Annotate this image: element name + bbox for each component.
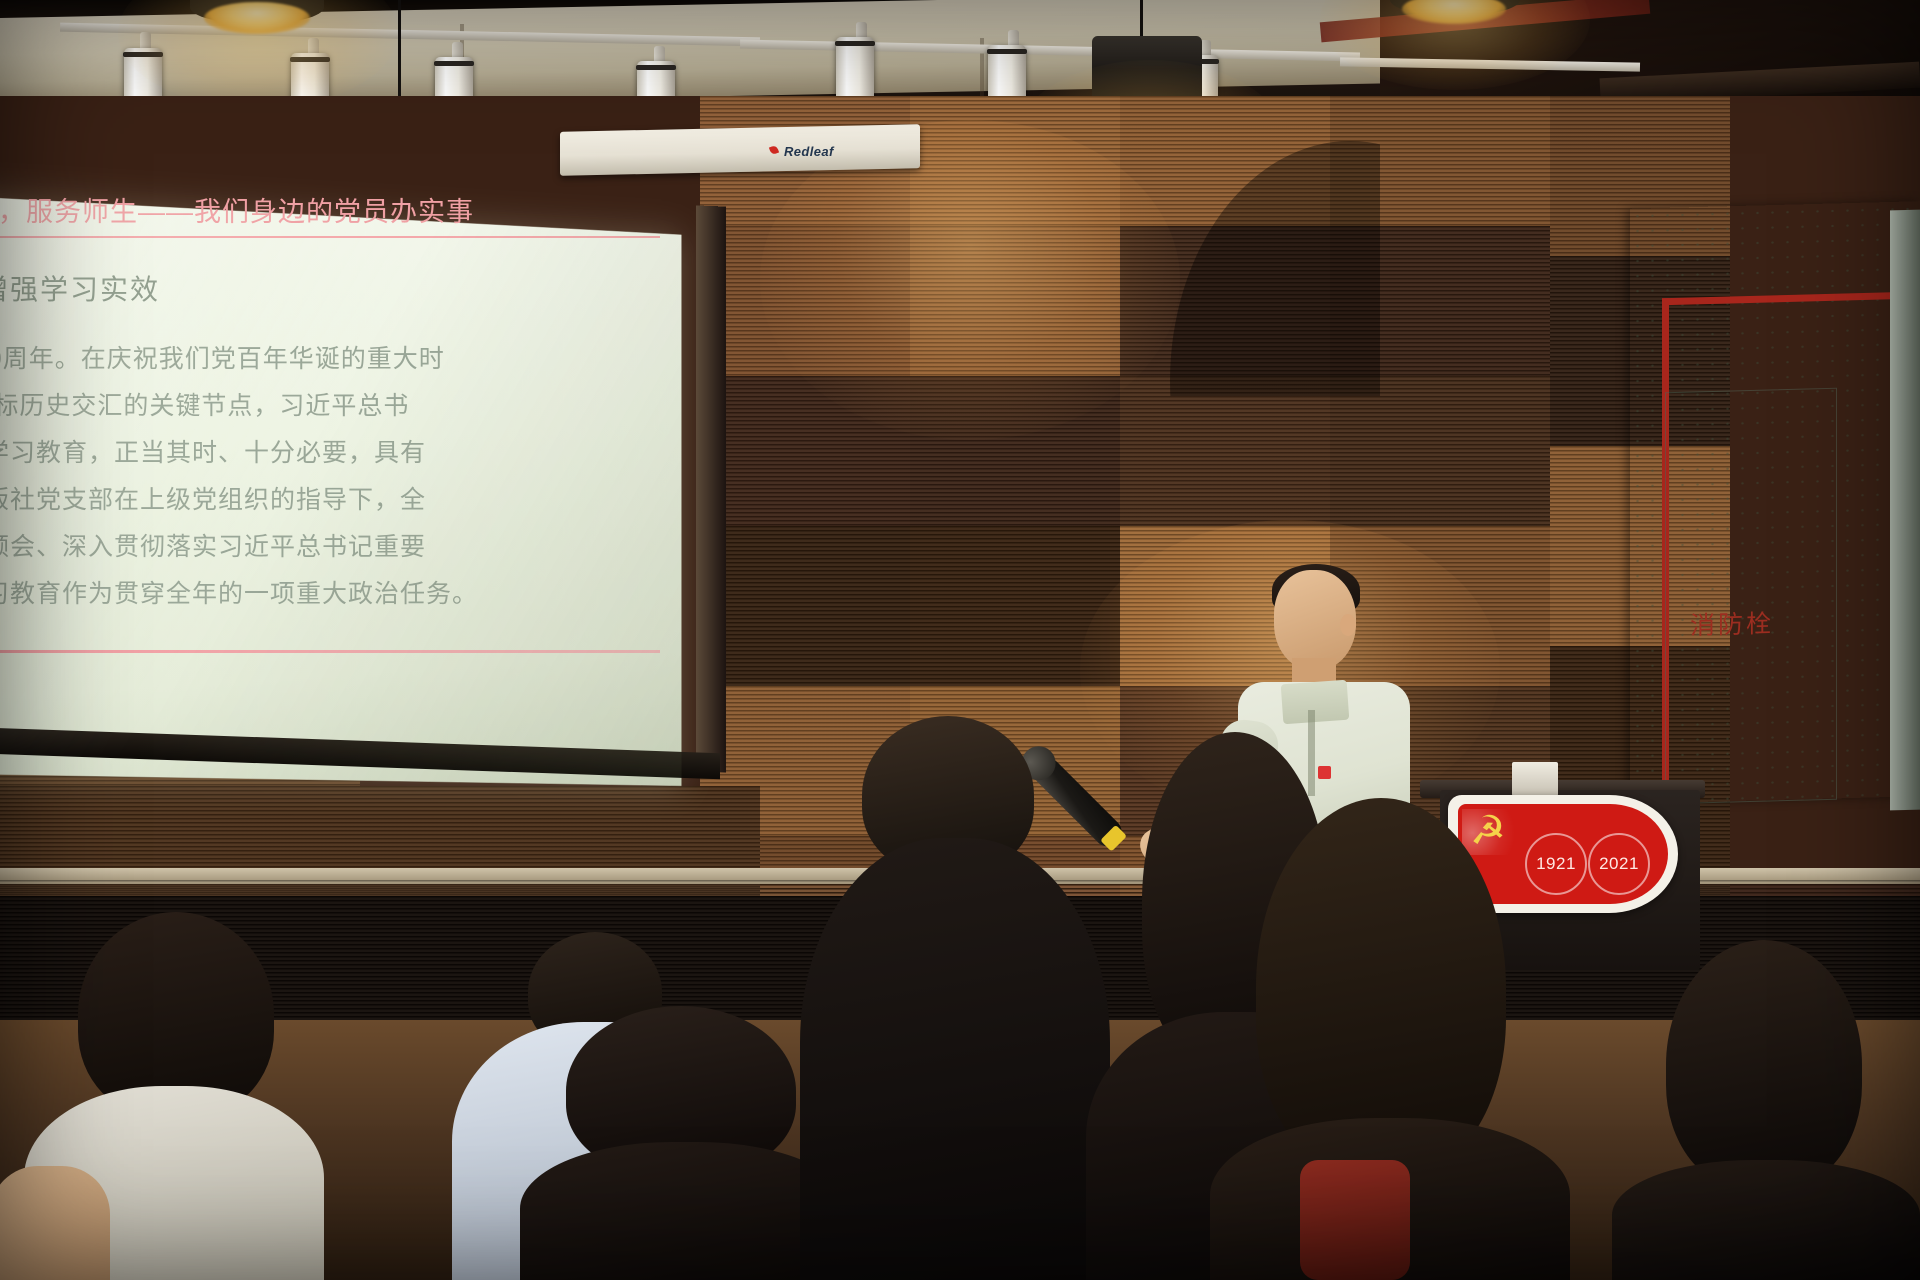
audience-member-arm [0,1166,110,1280]
audience-member-body [1612,1160,1920,1280]
audience-member-hair [1666,940,1862,1190]
audience-member-body [800,838,1110,1280]
audience-foreground [0,0,1920,1280]
photo-scene: Redleaf 谋，服务师生——我们身边的党员办实事 增强学习实效 党成立100… [0,0,1920,1280]
red-bag [1300,1160,1410,1280]
